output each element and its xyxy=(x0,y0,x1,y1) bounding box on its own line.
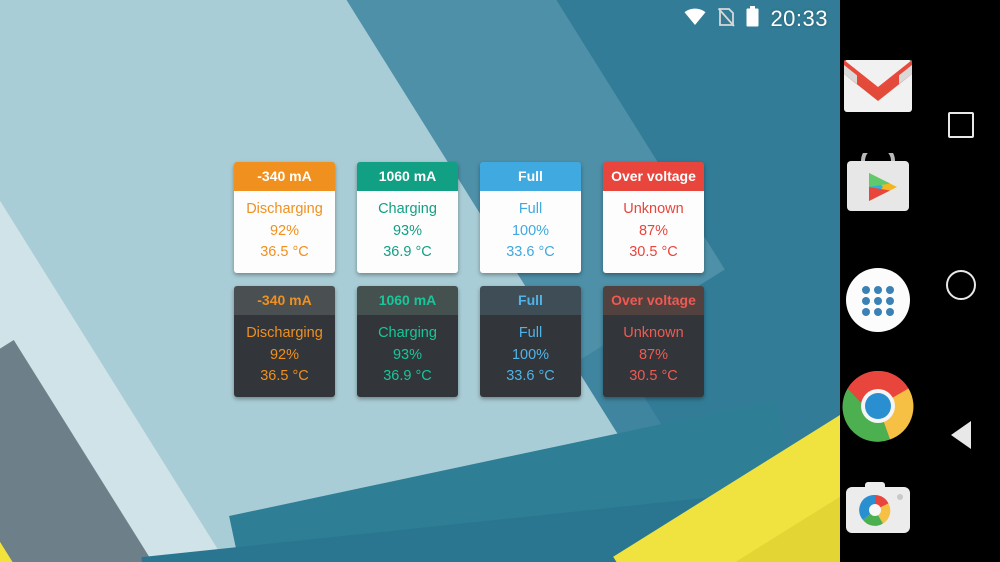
status-bar: 20:33 xyxy=(0,0,840,38)
battery-widget[interactable]: Over voltage Unknown 87% 30.5 °C xyxy=(603,286,704,397)
back-icon xyxy=(951,421,971,449)
battery-widget[interactable]: -340 mA Discharging 92% 36.5 °C xyxy=(234,162,335,273)
widget-body: Discharging 92% 36.5 °C xyxy=(234,191,335,273)
widget-temperature: 36.5 °C xyxy=(234,366,335,387)
widget-temperature: 36.5 °C xyxy=(234,242,335,263)
widget-body: Charging 93% 36.9 °C xyxy=(357,315,458,397)
widget-temperature: 33.6 °C xyxy=(480,366,581,387)
widget-percent: 93% xyxy=(357,221,458,242)
widget-header: 1060 mA xyxy=(357,286,458,315)
play-store-icon[interactable] xyxy=(840,148,916,224)
widget-temperature: 33.6 °C xyxy=(480,242,581,263)
widget-status: Full xyxy=(480,323,581,345)
widget-temperature: 30.5 °C xyxy=(603,242,704,263)
widget-body: Full 100% 33.6 °C xyxy=(480,315,581,397)
battery-widget[interactable]: Full Full 100% 33.6 °C xyxy=(480,162,581,273)
home-icon xyxy=(946,270,976,300)
widget-temperature: 36.9 °C xyxy=(357,366,458,387)
recents-icon xyxy=(948,112,974,138)
widget-row-light: -340 mA Discharging 92% 36.5 °C 1060 mA … xyxy=(234,162,704,273)
widget-header: Over voltage xyxy=(603,162,704,191)
widget-header: -340 mA xyxy=(234,286,335,315)
widget-body: Unknown 87% 30.5 °C xyxy=(603,315,704,397)
widget-status: Charging xyxy=(357,323,458,345)
widget-row-dark: -340 mA Discharging 92% 36.5 °C 1060 mA … xyxy=(234,286,704,397)
widget-header: Over voltage xyxy=(603,286,704,315)
widget-body: Discharging 92% 36.5 °C xyxy=(234,315,335,397)
widget-temperature: 30.5 °C xyxy=(603,366,704,387)
widget-status: Unknown xyxy=(603,199,704,221)
battery-widget[interactable]: 1060 mA Charging 93% 36.9 °C xyxy=(357,286,458,397)
battery-widget[interactable]: -340 mA Discharging 92% 36.5 °C xyxy=(234,286,335,397)
battery-icon xyxy=(745,6,760,33)
status-icon-group xyxy=(683,6,770,33)
app-drawer-icon[interactable] xyxy=(840,262,916,338)
widget-body: Charging 93% 36.9 °C xyxy=(357,191,458,273)
widget-status: Full xyxy=(480,199,581,221)
widget-percent: 93% xyxy=(357,345,458,366)
widget-body: Full 100% 33.6 °C xyxy=(480,191,581,273)
gmail-icon[interactable] xyxy=(840,48,916,124)
dock xyxy=(838,0,922,562)
battery-widget[interactable]: Full Full 100% 33.6 °C xyxy=(480,286,581,397)
battery-widget-grid: -340 mA Discharging 92% 36.5 °C 1060 mA … xyxy=(234,162,704,397)
wifi-icon xyxy=(683,8,707,31)
chrome-icon[interactable] xyxy=(840,368,916,444)
widget-header: -340 mA xyxy=(234,162,335,191)
widget-header: Full xyxy=(480,162,581,191)
sim-off-icon xyxy=(716,7,736,32)
status-clock: 20:33 xyxy=(770,6,840,32)
widget-status: Charging xyxy=(357,199,458,221)
camera-icon[interactable] xyxy=(840,472,916,548)
widget-percent: 92% xyxy=(234,221,335,242)
navigation-bar xyxy=(922,0,1000,562)
widget-percent: 100% xyxy=(480,345,581,366)
back-button[interactable] xyxy=(922,405,1000,465)
widget-percent: 87% xyxy=(603,221,704,242)
recents-button[interactable] xyxy=(922,95,1000,155)
widget-header: 1060 mA xyxy=(357,162,458,191)
widget-status: Discharging xyxy=(234,323,335,345)
widget-percent: 87% xyxy=(603,345,704,366)
widget-temperature: 36.9 °C xyxy=(357,242,458,263)
widget-percent: 92% xyxy=(234,345,335,366)
battery-widget[interactable]: 1060 mA Charging 93% 36.9 °C xyxy=(357,162,458,273)
widget-header: Full xyxy=(480,286,581,315)
battery-widget[interactable]: Over voltage Unknown 87% 30.5 °C xyxy=(603,162,704,273)
widget-status: Discharging xyxy=(234,199,335,221)
home-button[interactable] xyxy=(922,255,1000,315)
android-home-screen: 20:33 -340 mA Discharging 92% 36.5 °C 10… xyxy=(0,0,1000,562)
widget-status: Unknown xyxy=(603,323,704,345)
widget-body: Unknown 87% 30.5 °C xyxy=(603,191,704,273)
widget-percent: 100% xyxy=(480,221,581,242)
